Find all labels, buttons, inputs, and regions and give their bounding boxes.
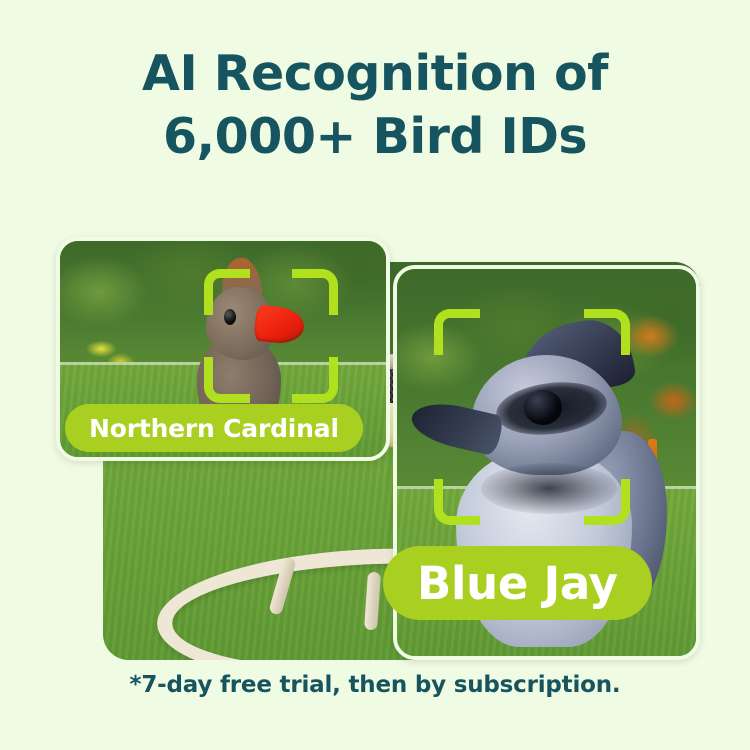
bird-eye xyxy=(224,309,236,325)
species-label-northern-cardinal[interactable]: Northern Cardinal xyxy=(65,404,363,452)
species-label-blue-jay[interactable]: Blue Jay xyxy=(383,546,652,620)
bird-beak xyxy=(253,305,305,346)
photo-collage: Northern Cardinal Blue Jay xyxy=(0,0,750,750)
trial-footnote: *7-day free trial, then by subscription. xyxy=(0,672,750,698)
bird-collar xyxy=(481,463,617,514)
bird-eye xyxy=(524,390,562,425)
